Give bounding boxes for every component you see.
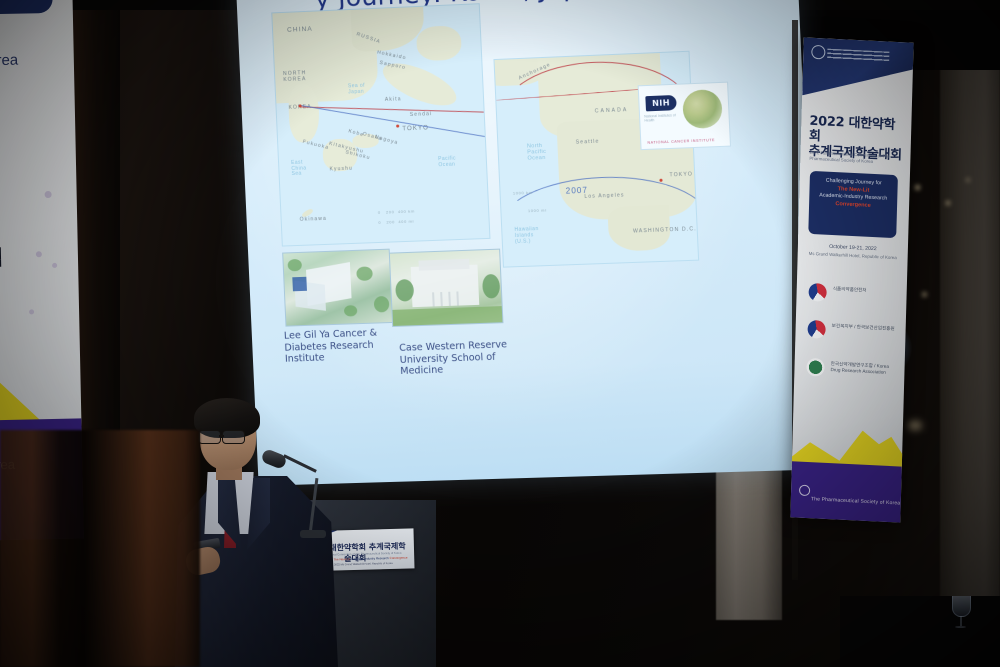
- map-label-seattle: Seattle: [576, 139, 600, 146]
- banner-right-purple-band: The Pharmaceutical Society of Korea: [790, 461, 901, 522]
- sponsor-logo-icon-1: [808, 283, 826, 302]
- psk-logo-icon: [799, 485, 810, 497]
- institute-glass-facade: [292, 277, 307, 292]
- map-scale-right-mi: 1000 mi: [528, 207, 547, 213]
- sponsor-label-1: 식품의약품안전처: [833, 286, 897, 295]
- map-scale-right-km: 1000 km: [513, 190, 533, 196]
- sponsor-label-2: 보건복지부 / 한국보건산업진흥원: [832, 323, 896, 332]
- banner-left-dot-2: [36, 251, 42, 257]
- case-western-photo: [389, 249, 504, 327]
- banner-right-logo-icon: [811, 45, 825, 60]
- banner-left-dot-4: [29, 309, 34, 314]
- banner-right-header: [802, 37, 914, 100]
- wall-sconce-light: [908, 421, 922, 430]
- cw-lawn: [392, 306, 502, 326]
- nih-logo-subtext: National Institutes of Health: [644, 113, 679, 123]
- sponsor-row-2: 보건복지부 / 한국보건산업진흥원: [807, 318, 896, 348]
- banner-right-tagline-box: Challenging Journey for The New-Lit Acad…: [808, 171, 898, 238]
- ceiling-light-2: [946, 201, 950, 205]
- water-glass: [952, 596, 969, 630]
- banner-right: 2022 대한약학회 추계국제학술대회 2022 Fall Internatio…: [790, 37, 913, 522]
- tree-1: [287, 259, 302, 272]
- eyeglasses-bridge: [219, 435, 224, 437]
- route-dot-seoul: [299, 104, 302, 107]
- cw-roof: [418, 259, 469, 271]
- nih-caption: NATIONAL CANCER INSTITUTE: [647, 138, 715, 145]
- cw-tree-2: [482, 274, 500, 299]
- map-label-north-korea: NORTH KOREA: [283, 70, 310, 83]
- rear-light-1: [966, 178, 970, 182]
- nih-campus-photo: [682, 89, 723, 129]
- sponsor-label-3: 한국신약개발연구조합 / Korea Drug Research Associa…: [830, 361, 894, 376]
- lee-gil-ya-institute-photo: [282, 249, 393, 327]
- banner-right-header-lines: [827, 49, 889, 62]
- banner-right-title-line1: 2022 대한약학회: [809, 114, 906, 149]
- tree-2: [356, 266, 373, 281]
- mountain-shape-right-b: [836, 425, 913, 469]
- caption-lee-gil-ya: Lee Gil Ya Cancer & Diabetes Research In…: [284, 327, 386, 365]
- screen-lower-shading: [254, 357, 821, 485]
- side-table: [840, 596, 1000, 667]
- map-label-sea-of-japan: Sea of Japan: [348, 83, 371, 95]
- banner-right-date-block: October 19-21, 2022 Ms Grand Walkerhill …: [806, 242, 900, 263]
- mountain-shape-left: [0, 375, 41, 424]
- route-dot-washington: [659, 179, 662, 182]
- photo-scene: y Journey: Korea, Japan, USA CHINA RUSSI…: [0, 0, 1000, 667]
- map-label-china: CHINA: [287, 26, 313, 34]
- tree-3: [344, 305, 358, 316]
- nih-inset: NIH National Institutes of Health NATION…: [638, 82, 731, 151]
- map-label-pacific-ocean: Pacific Ocean: [438, 156, 461, 168]
- banner-left-korean-fragment-2: 협: [0, 242, 4, 272]
- banner-left-mountain-graphic: [0, 358, 81, 423]
- sponsor-row-1: 식품의약품안전처: [808, 281, 897, 311]
- banner-left-dot-1: [45, 191, 52, 198]
- podium-tagline-hi2: Convergence: [390, 556, 408, 560]
- banner-left-dot-3: [52, 263, 57, 268]
- banner-right-mountain-graphic: [792, 417, 903, 468]
- map-label-akita: Akita: [385, 96, 402, 103]
- map-label-east-china-sea: East China Sea: [291, 160, 310, 177]
- banner-right-footer-org: The Pharmaceutical Society of Korea: [811, 496, 901, 506]
- map-label-sendai: Sendai: [410, 111, 433, 118]
- sponsor-logo-icon-2: [807, 320, 825, 339]
- eyeglasses-right-lens: [222, 430, 245, 444]
- sponsor-logo-icon-3: [806, 358, 824, 377]
- microphone-base: [300, 530, 326, 538]
- ceiling-light-3: [922, 292, 927, 297]
- banner-left-korea-fragment: f Korea: [0, 52, 18, 70]
- map-label-north-pacific-ocean: North Pacific Ocean: [527, 143, 550, 162]
- wood-wall-lower-left: [0, 430, 200, 667]
- glass-bowl: [952, 596, 971, 617]
- eyeglasses-left-lens: [198, 430, 221, 444]
- wall-strip-right: [940, 0, 1000, 640]
- sponsor-row-3: 한국신약개발연구조합 / Korea Drug Research Associa…: [806, 356, 895, 386]
- map-year-2007: 2007: [566, 186, 589, 196]
- route-dot-tokyo: [396, 124, 399, 127]
- map-label-tokyo-right: TOKYO: [669, 171, 693, 178]
- banner-left-blue-header: en: [0, 0, 53, 15]
- glass-foot: [955, 626, 966, 628]
- glass-stem: [960, 616, 962, 626]
- map-label-okinawa: Okinawa: [300, 216, 328, 223]
- korea-japan-map: CHINA RUSSIA NORTH KOREA KOREA Hokkaido …: [271, 3, 490, 246]
- ceiling-light-1: [915, 185, 920, 190]
- cw-building: [411, 265, 480, 308]
- tree-4: [374, 296, 390, 313]
- map-label-kyushu: Kyushu: [329, 166, 353, 173]
- nih-logo: NIH: [645, 95, 676, 111]
